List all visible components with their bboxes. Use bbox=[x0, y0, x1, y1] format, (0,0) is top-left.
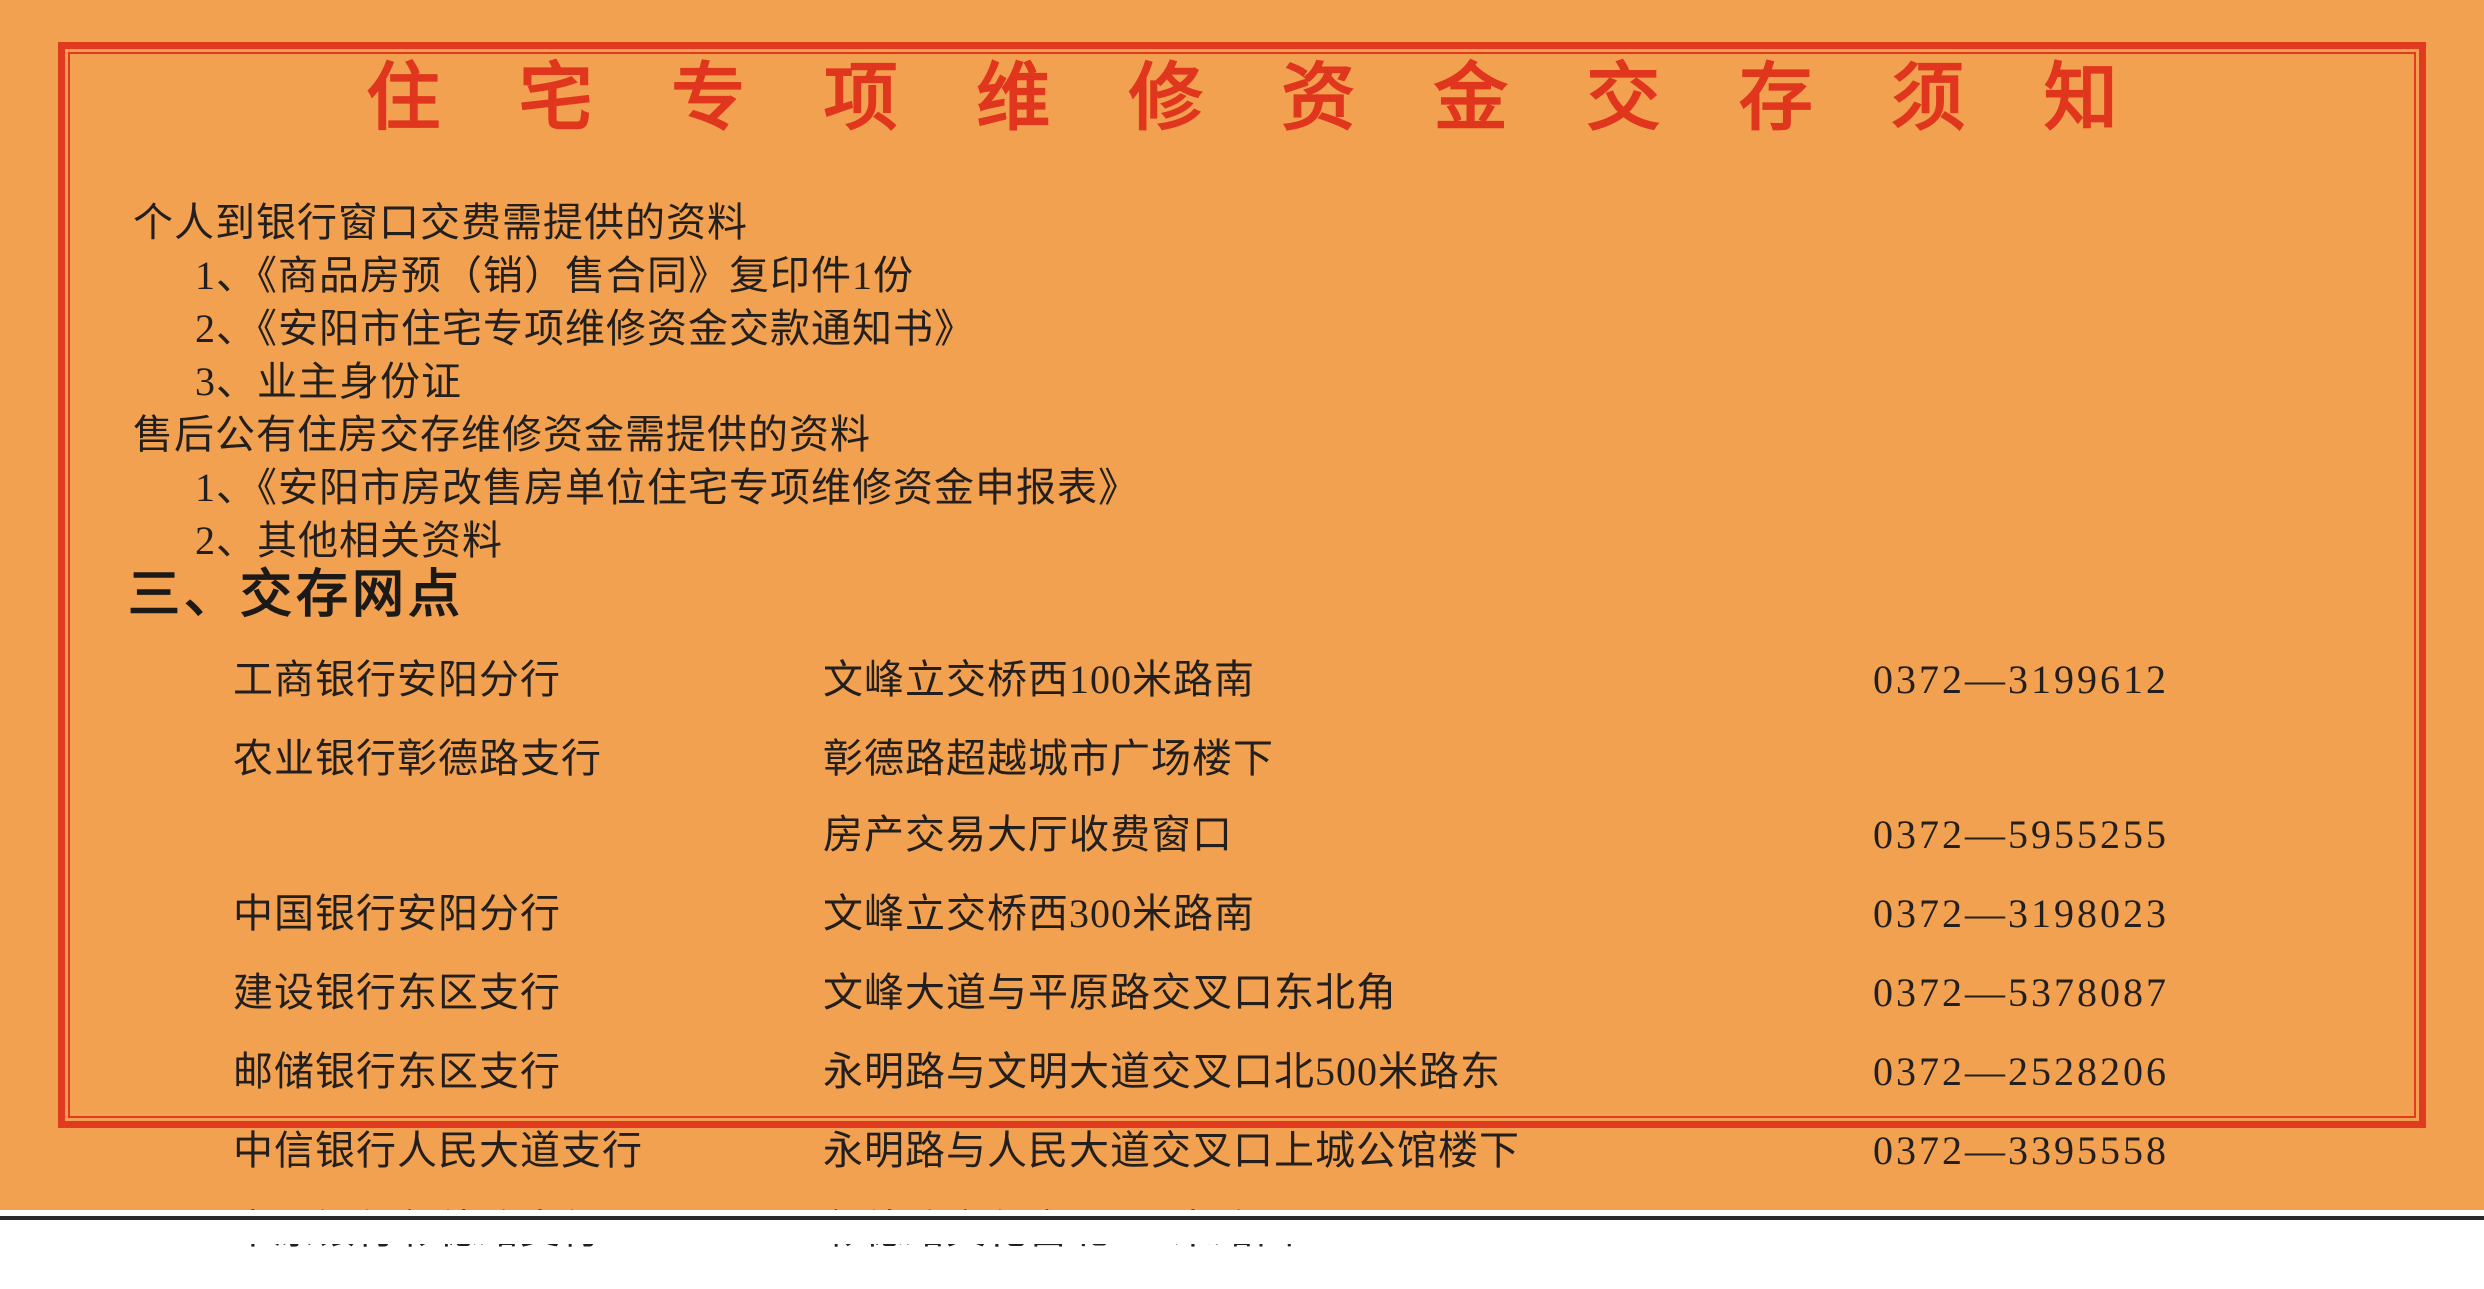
bank-phone: 0372—5378087 bbox=[1703, 973, 2293, 1052]
section-heading-deposit-locations: 三、交存网点 bbox=[128, 552, 464, 627]
individual-requirement-item-3: 3、业主身份证 bbox=[133, 355, 2333, 408]
bank-phone: 0372—5955255 bbox=[1703, 815, 2293, 894]
bank-name: 中信银行人民大道支行 bbox=[233, 1131, 823, 1210]
bank-name: 建设银行东区支行 bbox=[233, 973, 823, 1052]
public-housing-requirement-item-1: 1、《安阳市房改售房单位住宅专项维修资金申报表》 bbox=[133, 461, 2333, 514]
bank-address: 彰德路超越城市广场楼下 bbox=[823, 739, 1703, 815]
bank-address: 永明路与文明大道交叉口北500米路东 bbox=[823, 1052, 1703, 1131]
bank-phone: 0372—3395558 bbox=[1703, 1131, 2293, 1210]
table-row: 工商银行安阳分行 文峰立交桥西100米路南 0372—3199612 bbox=[233, 660, 2293, 739]
bank-phone: 0372—2528206 bbox=[1703, 1052, 2293, 1131]
bank-address: 文峰大道与平原路交叉口东北角 bbox=[823, 973, 1703, 1052]
table-row: 房产交易大厅收费窗口 0372—5955255 bbox=[233, 815, 2293, 894]
individual-requirement-item-1: 1、《商品房预（销）售合同》复印件1份 bbox=[133, 249, 2333, 302]
individual-requirement-item-2: 2、《安阳市住宅专项维修资金交款通知书》 bbox=[133, 302, 2333, 355]
bank-phone: 0372—3199612 bbox=[1703, 660, 2293, 739]
bank-phone bbox=[1703, 739, 2293, 815]
table-row: 邮储银行东区支行 永明路与文明大道交叉口北500米路东 0372—2528206 bbox=[233, 1052, 2293, 1131]
table-row: 中国银行安阳分行 文峰立交桥西300米路南 0372—3198023 bbox=[233, 894, 2293, 973]
bank-name: 工商银行安阳分行 bbox=[233, 660, 823, 739]
table-row: 中信银行人民大道支行 永明路与人民大道交叉口上城公馆楼下 0372—339555… bbox=[233, 1131, 2293, 1210]
page-title: 住 宅 专 项 维 修 资 金 交 存 须 知 bbox=[0, 62, 2484, 136]
individual-requirements-heading: 个人到银行窗口交费需提供的资料 bbox=[133, 196, 2333, 249]
bank-address: 永明路与人民大道交叉口上城公馆楼下 bbox=[823, 1131, 1703, 1210]
bank-branch-table: 工商银行安阳分行 文峰立交桥西100米路南 0372—3199612 农业银行彰… bbox=[233, 660, 2293, 1289]
bank-name: 农业银行彰德路支行 bbox=[233, 739, 823, 815]
bank-name: 邮储银行东区支行 bbox=[233, 1052, 823, 1131]
bank-address: 文峰立交桥西300米路南 bbox=[823, 894, 1703, 973]
poster-background: 住 宅 专 项 维 修 资 金 交 存 须 知 个人到银行窗口交费需提供的资料 … bbox=[0, 0, 2484, 1210]
bank-name bbox=[233, 815, 823, 894]
public-housing-requirements-heading: 售后公有住房交存维修资金需提供的资料 bbox=[133, 408, 2333, 461]
bank-name: 中国银行安阳分行 bbox=[233, 894, 823, 973]
bank-address: 文峰立交桥西100米路南 bbox=[823, 660, 1703, 739]
requirements-block: 个人到银行窗口交费需提供的资料 1、《商品房预（销）售合同》复印件1份 2、《安… bbox=[133, 196, 2333, 567]
table-row: 建设银行东区支行 文峰大道与平原路交叉口东北角 0372—5378087 bbox=[233, 973, 2293, 1052]
bank-phone: 0372—3198023 bbox=[1703, 894, 2293, 973]
table-row: 农业银行彰德路支行 彰德路超越城市广场楼下 bbox=[233, 739, 2293, 815]
bank-address: 房产交易大厅收费窗口 bbox=[823, 815, 1703, 894]
bottom-divider-line bbox=[0, 1216, 2484, 1220]
